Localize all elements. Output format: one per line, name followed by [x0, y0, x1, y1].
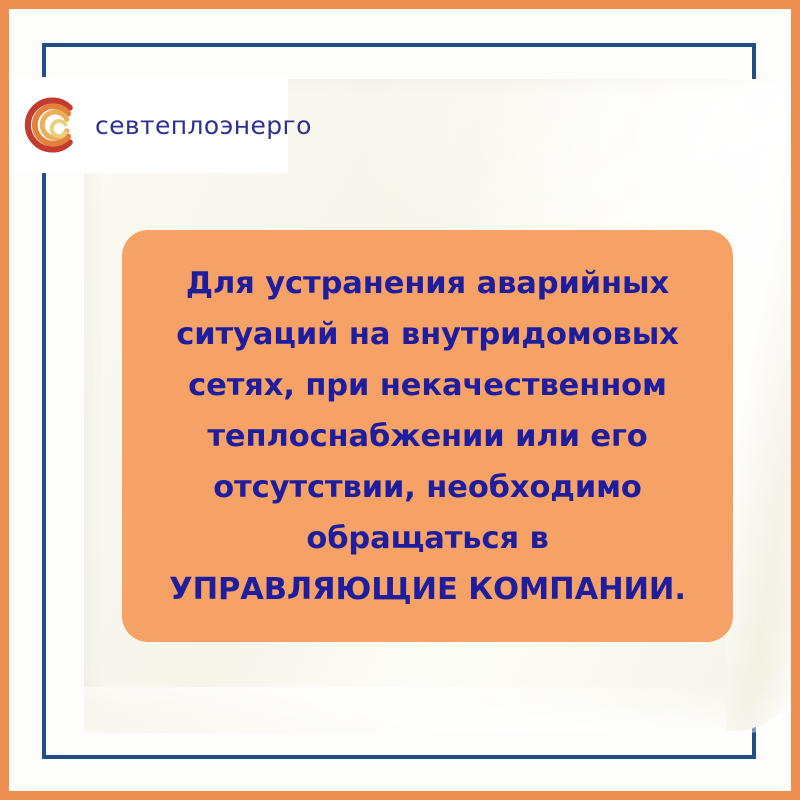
message-line-4: теплоснабжении или его [207, 411, 647, 462]
message-line-7: УПРАВЛЯЮЩИЕ КОМПАНИИ. [169, 564, 686, 615]
message-line-2: ситуаций на внутридомовых [176, 309, 679, 360]
message-box: Для устранения аварийных ситуаций на вну… [122, 230, 733, 642]
message-line-1: Для устранения аварийных [186, 258, 669, 309]
message-line-6: обращаться в [306, 513, 548, 564]
poster-root: севтеплоэнерго Для устранения аварийных … [0, 0, 800, 800]
message-line-3: сетях, при некачественном [188, 360, 667, 411]
logo-wordmark: севтеплоэнерго [95, 111, 312, 140]
logo-plate: севтеплоэнерго [9, 77, 288, 173]
message-line-5: отсутствии, необходимо [213, 462, 642, 513]
spiral-c-logo-icon [15, 89, 87, 161]
